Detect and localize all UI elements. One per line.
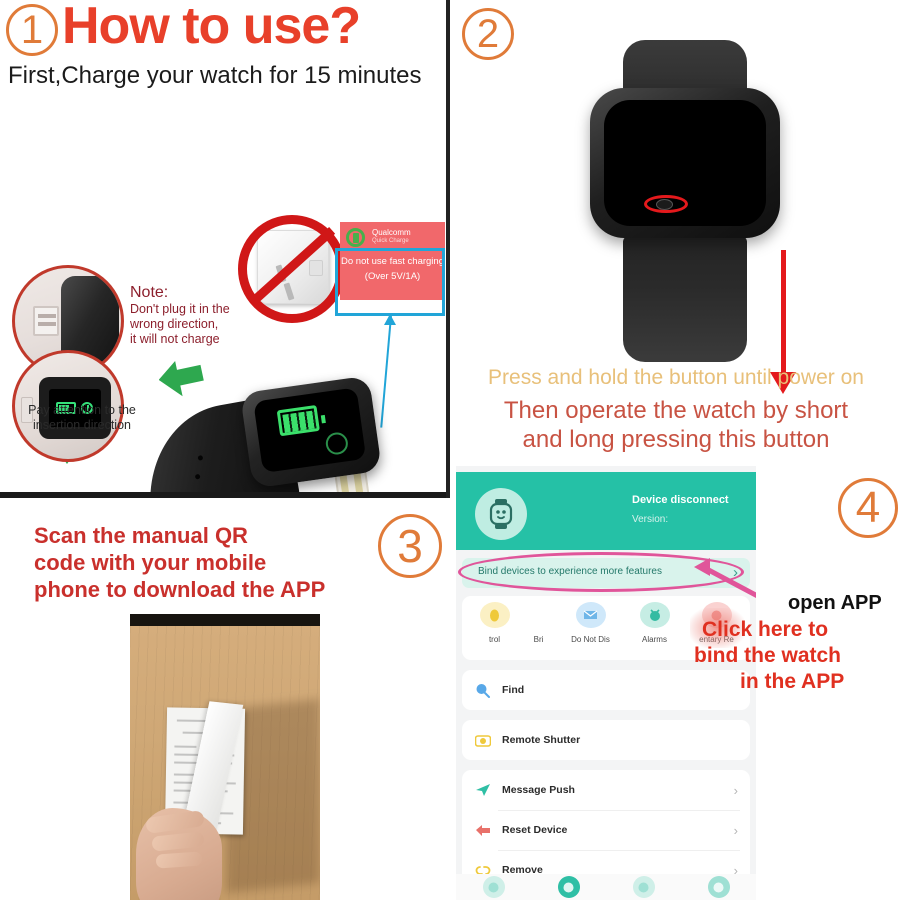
- panel1-subtitle: First,Charge your watch for 15 minutes: [8, 62, 422, 90]
- quick-action-item[interactable]: Alarms: [626, 602, 683, 644]
- red-arrow-line: [781, 250, 786, 378]
- menu-group-remote-shutter: Remote Shutter: [462, 720, 750, 760]
- brightness-icon: [524, 602, 554, 628]
- tab-4-icon[interactable]: [708, 876, 730, 898]
- alarms-icon: [640, 602, 670, 628]
- button-highlight-ellipse: [644, 195, 688, 213]
- qualcomm-name: Qualcomm: [372, 228, 411, 237]
- operate-watch-instruction: Then operate the watch by short and long…: [452, 396, 900, 454]
- quick-action-label: Do Not Dis: [562, 635, 619, 644]
- camera-icon: [474, 733, 491, 748]
- tab-3-icon[interactable]: [633, 876, 655, 898]
- panel1-illustration: Note: Don't plug it in the wrong directi…: [0, 100, 450, 492]
- tab-2-icon[interactable]: [558, 876, 580, 898]
- menu-item-label: Find: [502, 684, 524, 696]
- step-number-4: 4: [838, 478, 898, 538]
- page-title: How to use?: [62, 0, 360, 56]
- watch-front-photo: [570, 40, 800, 360]
- quick-action-label: Bri: [510, 635, 567, 644]
- click-here-annotation: Click here to bind the watch in the APP: [702, 617, 900, 695]
- watch-case-front: [590, 88, 780, 238]
- pay-attention-caption: Pay attention to the insertion direction: [14, 403, 150, 433]
- tab-1-icon[interactable]: [483, 876, 505, 898]
- watch-screen: [253, 387, 366, 473]
- qualcomm-logo-icon: [346, 228, 365, 247]
- menu-item-message-push[interactable]: Message Push ›: [462, 770, 750, 810]
- press-hold-instruction: Press and hold the button until power on: [452, 366, 900, 390]
- panel-power-on: 2 Press and hold the button until power …: [452, 0, 900, 462]
- watch-glyph-icon: [488, 499, 514, 529]
- panel1-bottom-rule: [0, 492, 450, 498]
- note-title: Note:: [130, 284, 168, 302]
- scan-qr-heading: Scan the manual QR code with your mobile…: [34, 522, 374, 603]
- quick-charge-label: Quick Charge: [372, 238, 409, 244]
- chevron-right-icon: ›: [734, 783, 738, 798]
- chevron-right-icon: ›: [734, 823, 738, 838]
- menu-item-label: Message Push: [502, 784, 575, 796]
- menu-item-reset-device[interactable]: Reset Device ›: [462, 810, 750, 850]
- menu-item-remote-shutter[interactable]: Remote Shutter: [462, 720, 750, 760]
- blue-highlight-box: [335, 248, 445, 316]
- watch-avatar-icon: [475, 488, 527, 540]
- send-icon: [474, 783, 491, 798]
- quick-action-item[interactable]: Do Not Dis: [562, 602, 619, 644]
- menu-item-label: Remote Shutter: [502, 734, 580, 746]
- step-number-3: 3: [378, 514, 442, 578]
- device-status-text: Device disconnect: [632, 494, 729, 506]
- step-number-1: 1: [6, 4, 58, 56]
- wall-charger-prohibited-graphic: [243, 218, 343, 318]
- quick-action-item[interactable]: Bri: [510, 602, 567, 644]
- click-line-3: in the APP: [740, 669, 900, 695]
- app-tab-bar: [456, 874, 756, 900]
- watch-band-bottom: [623, 236, 747, 362]
- battery-icon: [277, 405, 320, 436]
- control-icon: [480, 602, 510, 628]
- manual-photo: [130, 614, 320, 900]
- quick-action-label: Alarms: [626, 635, 683, 644]
- find-icon: [474, 683, 491, 698]
- do-not-disturb-icon: [576, 602, 606, 628]
- version-label: Version:: [632, 514, 668, 525]
- panel1-right-rule: [446, 0, 450, 498]
- watch-case: [240, 375, 382, 488]
- click-line-1: Click here to: [702, 617, 900, 643]
- step-number-2: 2: [462, 8, 514, 60]
- open-app-annotation: open APP: [788, 592, 882, 615]
- power-icon: [324, 431, 349, 456]
- menu-item-label: Reset Device: [502, 824, 567, 836]
- app-header: Device disconnect Version:: [456, 472, 756, 550]
- panel-how-to-use: 1 How to use? First,Charge your watch fo…: [0, 0, 450, 498]
- charging-watch-photo: [146, 362, 426, 492]
- hand-holding-manual: [136, 808, 222, 900]
- click-line-2: bind the watch: [694, 643, 900, 669]
- reset-arrow-icon: [474, 823, 491, 838]
- note-body: Don't plug it in the wrong direction, it…: [130, 302, 230, 347]
